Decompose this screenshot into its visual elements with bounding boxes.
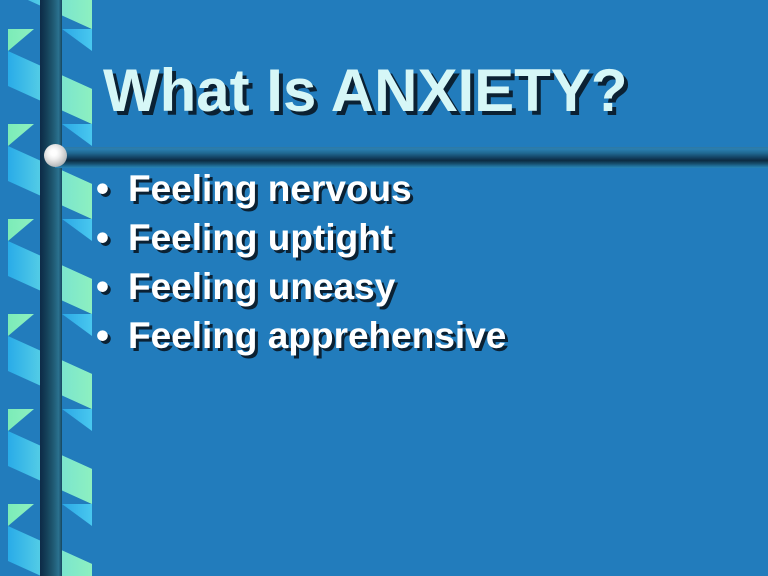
ribbon-segment bbox=[0, 409, 100, 504]
bullet-item-label: Feeling uptight bbox=[128, 217, 393, 259]
slide-title: What Is ANXIETY? bbox=[103, 58, 627, 124]
horizontal-divider-bar bbox=[55, 147, 768, 168]
ribbon-segment bbox=[0, 124, 100, 219]
ribbon-segment bbox=[0, 314, 100, 409]
helix-ribbon-graphic bbox=[0, 0, 100, 576]
bullet-marker-icon: • bbox=[96, 268, 128, 305]
ribbon-band-front bbox=[8, 124, 92, 219]
ribbon-band-front bbox=[8, 504, 92, 576]
glow-sphere-graphic bbox=[44, 144, 67, 167]
bullet-item-label: Feeling apprehensive bbox=[128, 315, 506, 357]
ribbon-band-front bbox=[8, 219, 92, 314]
bullet-list: •Feeling nervous•Feeling uptight•Feeling… bbox=[96, 168, 506, 364]
ribbon-segment bbox=[0, 29, 100, 124]
bullet-item-label: Feeling nervous bbox=[128, 168, 412, 210]
ribbon-band-front bbox=[8, 409, 92, 504]
bullet-marker-icon: • bbox=[96, 170, 128, 207]
bullet-marker-icon: • bbox=[96, 219, 128, 256]
ribbon-band-front bbox=[8, 29, 92, 124]
bullet-list-item: •Feeling uptight bbox=[96, 217, 506, 266]
ribbon-band-front bbox=[8, 314, 92, 409]
ribbon-segment bbox=[0, 219, 100, 314]
bullet-list-item: •Feeling nervous bbox=[96, 168, 506, 217]
bullet-list-item: •Feeling uneasy bbox=[96, 266, 506, 315]
bullet-list-item: •Feeling apprehensive bbox=[96, 315, 506, 364]
ribbon-segment bbox=[0, 0, 100, 29]
bullet-item-label: Feeling uneasy bbox=[128, 266, 395, 308]
ribbon-band-front bbox=[8, 0, 92, 29]
ribbon-segment bbox=[0, 504, 100, 576]
bullet-marker-icon: • bbox=[96, 317, 128, 354]
presentation-slide: What Is ANXIETY? •Feeling nervous•Feelin… bbox=[0, 0, 768, 576]
